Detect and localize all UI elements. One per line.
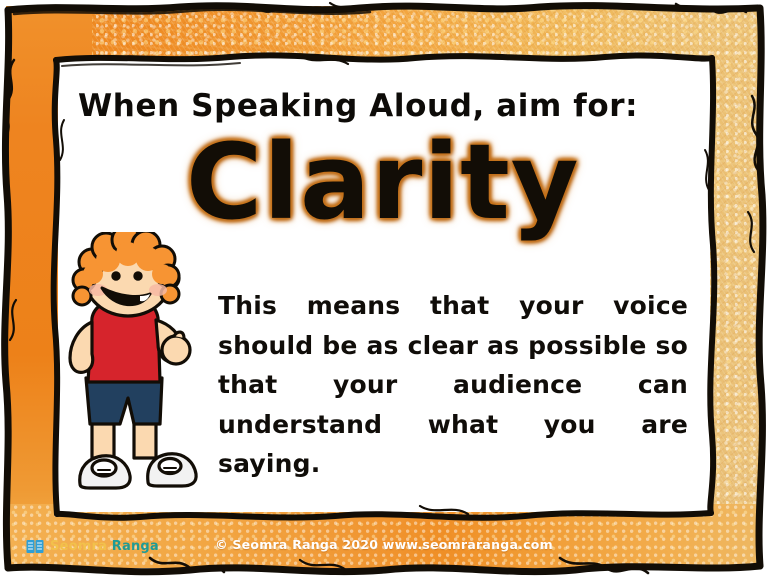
body-paragraph: This means that your voice should be as … — [218, 286, 688, 523]
cartoon-boy-illustration — [48, 232, 208, 500]
page-title: When Speaking Aloud, aim for: — [78, 88, 638, 124]
highlight-word: Clarity — [186, 130, 580, 234]
copyright-text: © Seomra Ranga 2020 www.seomraranga.com — [0, 537, 768, 552]
poster: When Speaking Aloud, aim for: Clarity Th… — [0, 0, 768, 576]
